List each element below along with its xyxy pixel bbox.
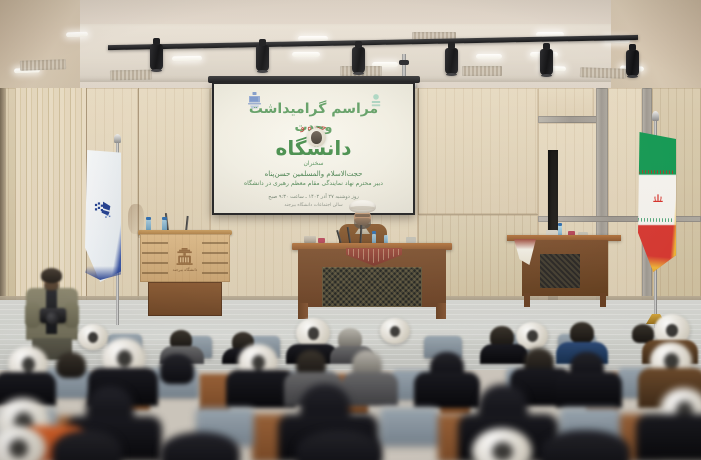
podium-groove <box>202 242 228 244</box>
photographer-beard <box>44 283 59 291</box>
projection-screen: مراسم گرامیداشت وحدت حوزه و دانشگاه سخنر… <box>214 84 413 213</box>
speaker-glasses-icon <box>355 214 370 217</box>
slide-portrait-medallion <box>307 128 326 147</box>
track-spotlight <box>540 49 553 75</box>
speaker-beard <box>354 218 371 229</box>
side-table-front <box>522 240 608 296</box>
wall-edge-shadow <box>0 88 6 318</box>
desk-tray <box>304 236 316 243</box>
audience-head <box>56 352 86 378</box>
led-strip <box>292 52 320 57</box>
flag-gold-fringe <box>638 132 676 272</box>
ceiling-left-bulkhead <box>0 0 80 96</box>
slide-title-line1: مراسم گرامیداشت <box>214 101 413 117</box>
speaker-turban-wrap <box>350 206 375 210</box>
slide-speaker-name: حجت‌الاسلام والمسلمین حسن‌پناه <box>214 170 413 178</box>
university-emblem-icon <box>92 198 114 220</box>
auditorium-photo: مراسم گرامیداشت وحدت حوزه و دانشگاه سخنر… <box>0 0 701 460</box>
track-spotlight <box>256 45 269 71</box>
slide-speaker-label: سخنران <box>214 160 413 167</box>
podium-groove <box>142 262 168 264</box>
photographer-hair <box>41 268 62 283</box>
led-strip <box>476 54 502 59</box>
track-spotlight <box>150 44 163 70</box>
wall-seam <box>138 88 139 318</box>
podium-cable <box>128 204 144 234</box>
water-bottle-cap <box>372 231 376 234</box>
podium-front-panel: دانشگاه بیرجند <box>140 234 230 282</box>
ceiling-right-bulkhead <box>611 0 701 96</box>
led-strip <box>66 32 88 38</box>
podium-groove <box>142 272 168 274</box>
podium-groove <box>202 252 228 254</box>
projection-screen-frame: مراسم گرامیداشت وحدت حوزه و دانشگاه سخنر… <box>212 82 415 215</box>
audience-chador-head <box>52 430 122 460</box>
podium-groove <box>142 242 168 244</box>
water-bottle-cap <box>162 217 167 220</box>
podium-emblem-label: دانشگاه بیرجند <box>154 267 216 272</box>
slide-speaker-title: دبیر محترم نهاد نمایندگی مقام معظم رهبری… <box>214 180 413 187</box>
water-bottle-cap <box>146 217 151 220</box>
audience-chador-head <box>160 354 194 384</box>
ceiling-vent <box>110 70 152 81</box>
audience-chador-head <box>160 432 240 460</box>
podium-groove <box>202 262 228 264</box>
audience-row-front <box>0 430 701 460</box>
audience-turban-head <box>472 428 532 460</box>
university-flag <box>83 140 133 325</box>
audience-turban-head <box>0 426 46 460</box>
ceiling-vent <box>580 67 626 79</box>
wall-panel <box>418 88 538 214</box>
track-spotlight <box>445 48 458 74</box>
ceiling-vent <box>462 66 502 76</box>
water-bottle-cap <box>558 223 562 226</box>
led-strip <box>172 56 202 62</box>
wall-panel <box>138 88 210 238</box>
slide-portrait-face <box>311 131 322 144</box>
projector-collar <box>399 60 409 65</box>
iran-flag <box>630 118 688 328</box>
side-table-grille <box>540 254 580 288</box>
podium-groove <box>202 272 228 274</box>
track-spotlight <box>626 50 639 76</box>
audience-chador-head <box>296 430 382 460</box>
flag-finial-icon <box>652 111 659 121</box>
audience-area <box>0 300 701 460</box>
audience-chador-head <box>540 430 630 460</box>
track-spotlight <box>352 47 365 73</box>
ceiling-vent <box>20 59 66 71</box>
podium-groove <box>142 252 168 254</box>
flag-finial-icon <box>114 134 121 143</box>
